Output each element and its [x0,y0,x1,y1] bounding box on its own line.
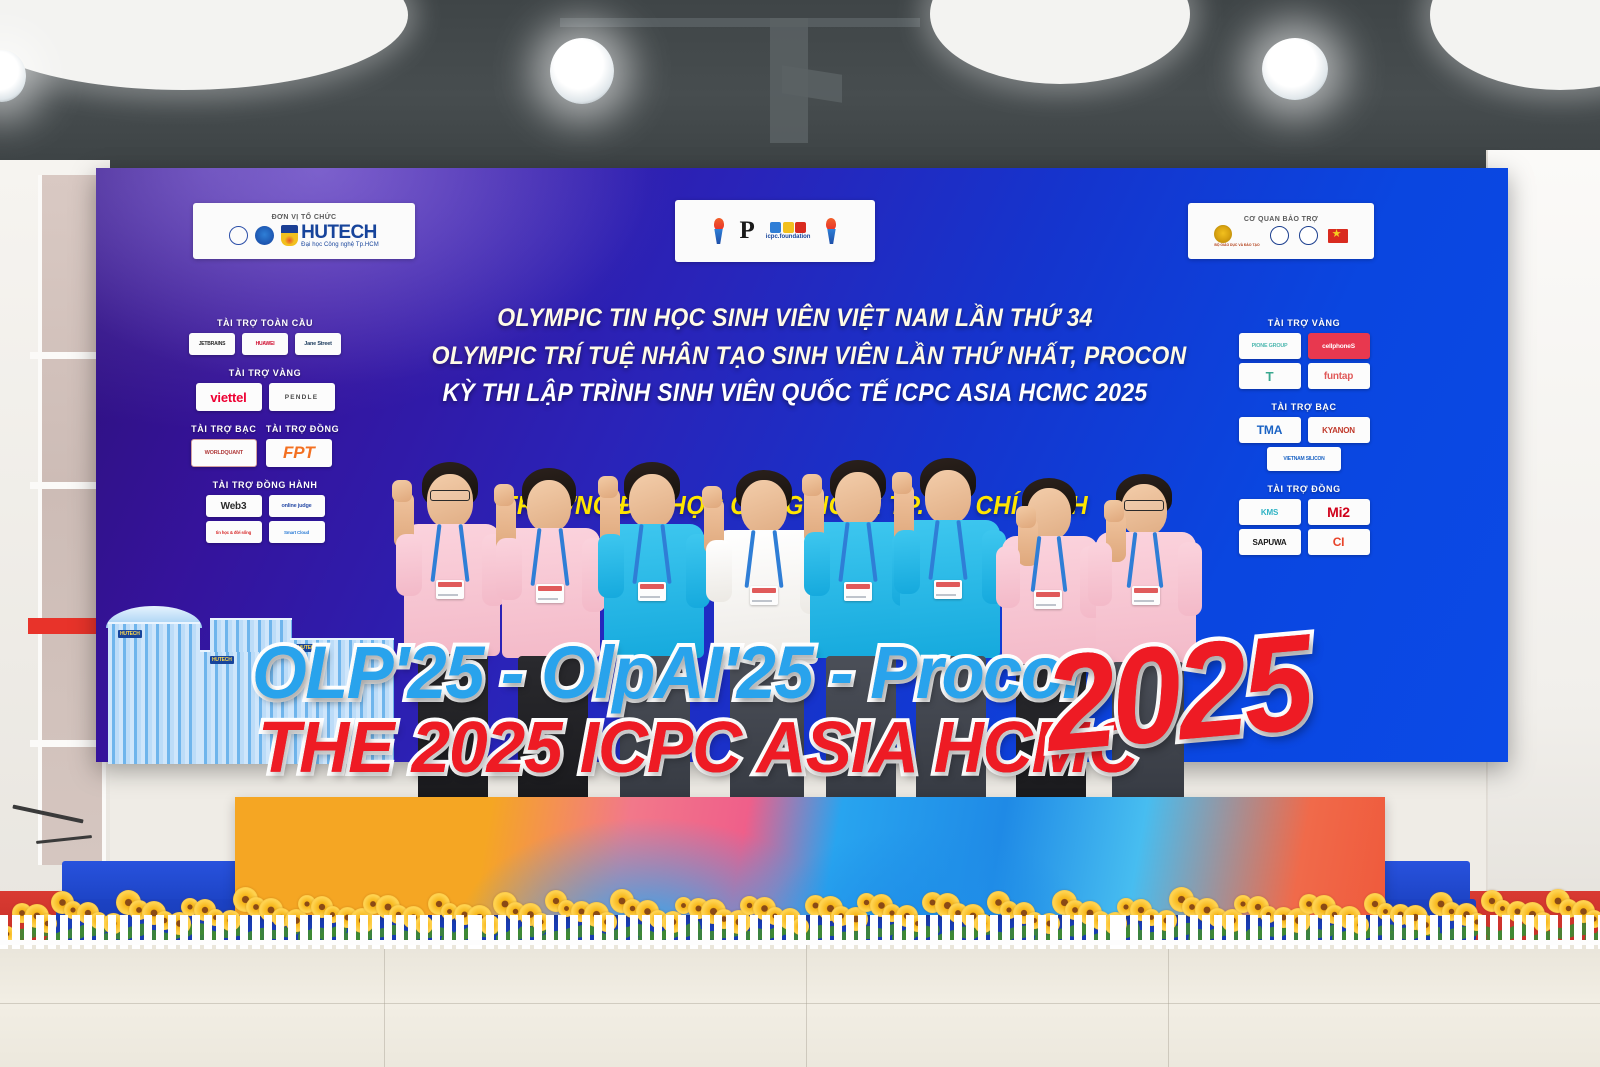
name-badge [638,582,666,601]
banner-headline-block: OLYMPIC TIN HỌC SINH VIÊN VIỆT NAM LẦN T… [400,300,1190,413]
patron-logo-strip: CƠ QUAN BẢO TRỢ BỘ GIÁO DỤC VÀ ĐÀO TẠO [1188,203,1374,259]
hutech-wordmark: HUTECH [301,223,379,242]
building-tower-left [108,622,200,764]
name-badge [1132,586,1160,605]
jetbrains-logo: JETBRAINS [199,341,226,347]
viettel-logo: viettel [210,390,246,405]
name-badge [436,580,464,599]
head [427,474,473,528]
name-badge [1034,590,1062,609]
organizer-logo-strip: ĐƠN VỊ TỔ CHỨC HUTECH Đại học Công nghệ … [193,203,415,259]
building-sign-mid: HUTECH [210,656,234,664]
organizer-caption: ĐƠN VỊ TỔ CHỨC [272,214,337,221]
raised-fist [802,474,822,496]
name-badge [750,586,778,605]
head [835,472,881,526]
worldquant-logo: WORLDQUANT [205,450,243,456]
sapuwa-logo: SAPUWA [1253,538,1287,547]
kms-technology-logo: KMS [1261,508,1278,517]
name-badge [536,584,564,603]
sponsor-tier-gold-right: TÀI TRỢ VÀNG PIONE GROUP cellphoneS T fu… [1239,318,1370,389]
upper-arm [598,534,624,598]
name-badge [934,580,962,599]
fpt-smart-cloud-logo: Smart Cloud [284,530,309,535]
sponsor-column-left: TÀI TRỢ TOÀN CẦU JETBRAINS HUAWEI Jane S… [190,318,340,556]
cellphones-logo: cellphoneS [1322,343,1355,350]
icpc-foundation-label: icpc.foundation [766,234,811,240]
raised-fist [392,480,412,502]
ceiling-beam-horizontal [560,18,920,27]
kyanon-logo: KYANON [1322,426,1355,435]
building-sign-left: HUTECH [118,630,142,638]
upper-arm [996,546,1020,608]
doan-thanh-nien-flag-icon [1328,229,1348,243]
ceiling-spotlight-2 [550,38,614,104]
raised-fist [494,484,514,506]
sponsor-column-right: TÀI TRỢ VÀNG PIONE GROUP cellphoneS T fu… [1228,318,1380,568]
ceiling-spotlight-3 [1262,38,1328,100]
raised-fist [1104,500,1124,522]
huawei-logo: HUAWEI [256,341,275,347]
hoi-sinh-vien-logo-icon [1270,226,1289,245]
sponsor-tier-bronze-right: TÀI TRỢ ĐỒNG KMS Mi2 SAPUWA CI [1239,484,1370,555]
foreground-year: 2025 [1040,613,1314,771]
olp-torch-icon [709,218,729,244]
sponsor-tier-title: TÀI TRỢ VÀNG [196,368,335,378]
tct-logo: T [1266,369,1274,384]
sponsor-tier-title: TÀI TRỢ ĐỒNG [266,424,339,434]
fpt-logo: FPT [283,443,315,463]
head [741,480,787,534]
sponsor-tier-title: TÀI TRỢ ĐỒNG HÀNH [206,480,325,490]
fence-rail [0,940,1600,945]
hutech-shield-icon [281,225,298,246]
head [629,474,675,528]
web3-logo: Web3 [221,501,247,512]
icpc-tiles-icon [770,222,806,233]
icpc-logo-strip: P icpc.foundation [675,200,875,262]
sponsor-tier-bronze-left: TÀI TRỢ ĐỒNG FPT [266,424,339,467]
upper-arm [894,530,920,594]
torch-circle-logo-icon [255,226,274,245]
hutech-subtitle: Đại học Công nghệ Tp.HCM [301,242,379,248]
upper-arm [496,538,522,600]
upper-arm [1088,542,1112,606]
glasses-icon [1124,500,1164,511]
upper-arm [804,532,830,596]
headline-line-2: OLYMPIC TRÍ TUỆ NHÂN TẠO SINH VIÊN LẦN T… [432,338,1159,376]
online-judge-logo: online judge [282,503,312,509]
ci-logo: CI [1333,535,1345,549]
sponsor-tier-title: TÀI TRỢ VÀNG [1239,318,1370,328]
upper-arm-right [1178,542,1202,616]
stage-scene: ĐƠN VỊ TỔ CHỨC HUTECH Đại học Công nghệ … [0,0,1600,1067]
pendle-logo: PENDLE [285,394,319,401]
funtap-logo: funtap [1324,371,1353,382]
raised-fist [1016,506,1036,528]
raised-fist [892,472,912,494]
moet-label: BỘ GIÁO DỤC VÀ ĐÀO TẠO [1214,243,1259,247]
sponsor-tier-title: TÀI TRỢ BẠC [191,424,257,434]
tma-solutions-logo: TMA [1257,423,1282,437]
sponsor-tier-gold-left: TÀI TRỢ VÀNG viettel PENDLE [196,368,335,411]
mi2-logo: Mi2 [1327,504,1350,520]
raised-fist [598,476,618,498]
headline-line-1: OLYMPIC TIN HỌC SINH VIÊN VIỆT NAM LẦN T… [432,300,1159,338]
pione-group-logo: PIONE GROUP [1252,343,1288,349]
sponsor-tier-companion-left: TÀI TRỢ ĐỒNG HÀNH Web3 online judge tin … [206,480,325,543]
upper-arm [396,534,422,596]
sponsor-tier-title: TÀI TRỢ TOÀN CẦU [189,318,341,328]
procon-torch-icon [821,218,841,244]
patron-caption: CƠ QUAN BẢO TRỢ [1244,216,1318,223]
sponsor-tier-silver-left: TÀI TRỢ BẠC WORLDQUANT [191,424,257,467]
vsa-logo-icon [1299,226,1318,245]
name-badge [844,582,872,601]
upper-arm [706,540,732,602]
foreground-red-subtitle: THE 2025 ICPC ASIA HCMC [258,712,1045,784]
sponsor-tier-title: TÀI TRỢ BẠC [1239,402,1370,412]
hoi-tin-hoc-seal-icon [229,226,248,245]
vietnam-silicon-logo: VIETNAM SILICON [1283,456,1324,462]
sponsor-tier-title: TÀI TRỢ ĐỒNG [1239,484,1370,494]
head [925,470,971,524]
hutech-logo: HUTECH Đại học Công nghệ Tp.HCM [281,223,379,248]
jane-street-logo: Jane Street [304,341,331,347]
picket-fence-band [0,915,1600,949]
head [527,480,571,532]
moet-emblem-icon [1214,225,1232,243]
foreground-blue-title: OLP'25 - OlpAI'25 - Procon [252,636,1003,710]
headline-line-3: KỲ THI LẬP TRÌNH SINH VIÊN QUỐC TẾ ICPC … [432,375,1159,413]
procon-p-logo: P [740,220,755,243]
raised-fist [702,486,722,508]
icpc-foundation-logo: icpc.foundation [766,222,811,241]
sponsor-tier-global: TÀI TRỢ TOÀN CẦU JETBRAINS HUAWEI Jane S… [189,318,341,355]
tin-hoc-doi-song-logo: tin học & đời sống [216,530,251,535]
floor-seam [0,1003,1600,1004]
glasses-icon [430,490,470,501]
sponsor-tier-silver-right: TÀI TRỢ BẠC TMA KYANON VIETNAM SILICON [1239,402,1370,471]
